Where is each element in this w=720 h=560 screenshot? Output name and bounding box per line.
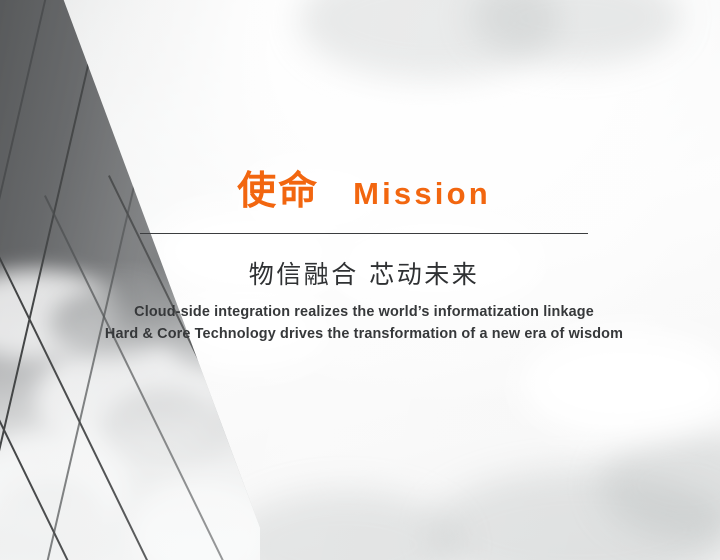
hero-subtitle-cn: 物信融合 芯动未来 (140, 258, 588, 292)
hero-description-line-1: Cloud-side integration realizes the worl… (40, 301, 688, 323)
hero-title: 使命 Mission (140, 172, 588, 211)
hero-description-line-2: Hard & Core Technology drives the transf… (40, 323, 688, 345)
hero-title-en: Mission (353, 178, 491, 209)
hero-banner: 使命 Mission 物信融合 芯动未来 Cloud-side integrat… (0, 0, 720, 560)
hero-content: 使命 Mission 物信融合 芯动未来 Cloud-side integrat… (0, 0, 720, 560)
hero-title-cn: 使命 (237, 172, 319, 211)
title-divider (140, 233, 588, 234)
hero-description: Cloud-side integration realizes the worl… (40, 301, 688, 345)
